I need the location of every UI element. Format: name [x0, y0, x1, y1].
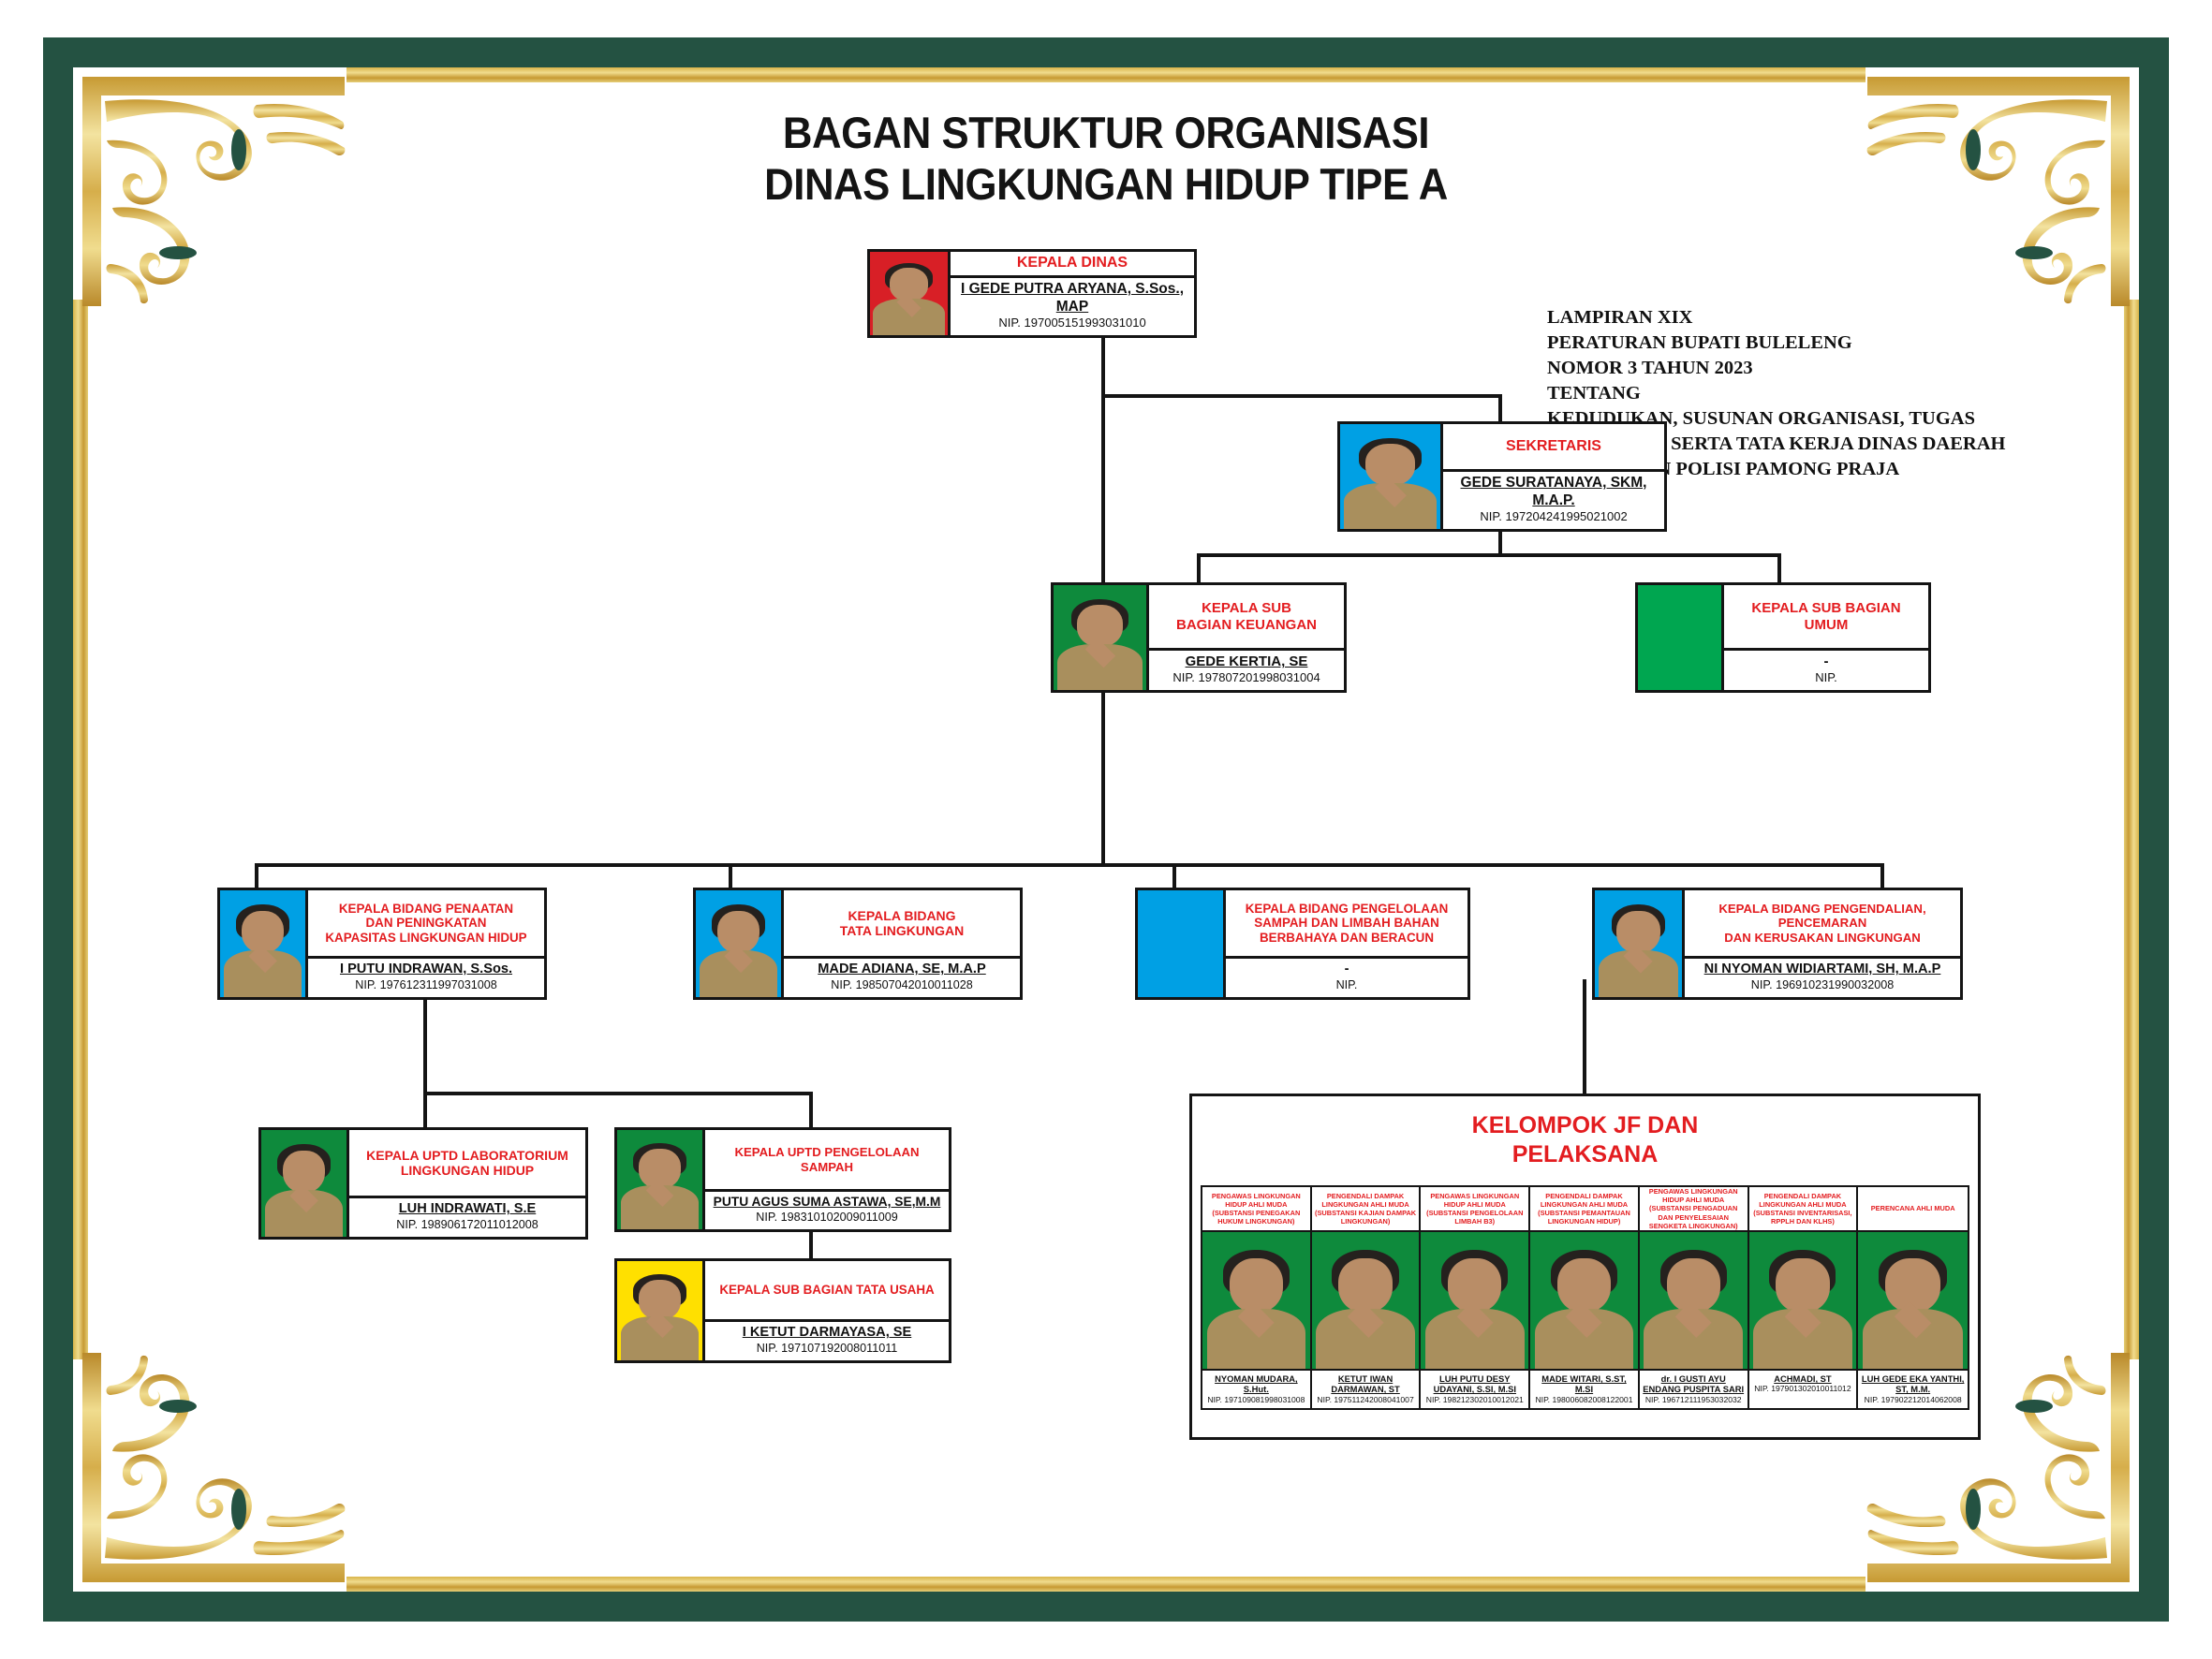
person-name: I GEDE PUTRA ARYANA, S.Sos., MAP — [954, 281, 1190, 316]
person-nip: NIP. 196712111953032032 — [1642, 1395, 1746, 1404]
connector-uptd-sampah-drop — [809, 1092, 813, 1127]
role-label: KEPALA SUB BAGIAN TATA USAHA — [705, 1261, 949, 1322]
jf-role-label: PERENCANA AHLI MUDA — [1858, 1187, 1968, 1232]
node-subbag-umum[interactable]: KEPALA SUB BAGIAN UMUM - NIP. — [1635, 582, 1931, 693]
person-name: I PUTU INDRAWAN, S.Sos. — [312, 962, 540, 978]
person-name: - — [1728, 653, 1924, 670]
gold-edge-left — [73, 300, 88, 1359]
person-name: MADE ADIANA, SE, M.A.P — [788, 962, 1016, 978]
avatar — [1312, 1232, 1420, 1371]
role-line-1: KEPALA BIDANG PENGENDALIAN, PENCEMARAN — [1689, 902, 1955, 931]
avatar — [696, 890, 784, 997]
node-sekretaris[interactable]: SEKRETARIS GEDE SURATANAYA, SKM, M.A.P. … — [1337, 421, 1667, 532]
avatar — [1054, 585, 1149, 690]
jf-member-cell[interactable]: PENGENDALI DAMPAK LINGKUNGAN AHLI MUDA (… — [1312, 1187, 1422, 1408]
avatar — [617, 1261, 705, 1360]
jf-name-block: LUH GEDE EKA YANTHI, ST, M.M.NIP. 197902… — [1858, 1371, 1968, 1408]
jf-name-block: MADE WITARI, S.ST, M.SINIP. 198006082008… — [1530, 1371, 1638, 1408]
person-name: NI NYOMAN WIDIARTAMI, SH, M.A.P — [1688, 962, 1956, 978]
person-nip: NIP. 198906172011012008 — [353, 1218, 582, 1232]
gold-edge-top — [347, 67, 1865, 82]
person-name: PUTU AGUS SUMA ASTAWA, SE,M.M — [709, 1195, 945, 1211]
connector-subbag-umum-drop — [1777, 553, 1781, 582]
title-line-1: BAGAN STRUKTUR ORGANISASI — [165, 107, 2048, 158]
role-line-2: LINGKUNGAN HIDUP — [366, 1163, 568, 1178]
connector-bidang-bus — [255, 863, 1884, 867]
jf-role-label: PENGAWAS LINGKUNGAN HIDUP AHLI MUDA (SUB… — [1421, 1187, 1528, 1232]
avatar — [261, 1130, 349, 1237]
person-nip: NIP. 197109081998031008 — [1204, 1395, 1308, 1404]
page-title: BAGAN STRUKTUR ORGANISASI DINAS LINGKUNG… — [94, 107, 2118, 211]
role-label: KEPALA DINAS — [951, 252, 1194, 278]
person-name: GEDE KERTIA, SE — [1153, 653, 1340, 670]
connector-bidang-2-drop — [729, 863, 732, 888]
jf-name-block: dr. I GUSTI AYU ENDANG PUSPITA SARINIP. … — [1640, 1371, 1747, 1408]
person-nip: NIP. 197107192008011011 — [709, 1342, 945, 1356]
role-line-1: KEPALA SUB — [1176, 600, 1317, 617]
node-bidang-tata-lingkungan[interactable]: KEPALA BIDANG TATA LINGKUNGAN MADE ADIAN… — [693, 888, 1023, 1000]
jf-role-label: PENGENDALI DAMPAK LINGKUNGAN AHLI MUDA (… — [1530, 1187, 1638, 1232]
jf-member-cell[interactable]: PENGENDALI DAMPAK LINGKUNGAN AHLI MUDA (… — [1749, 1187, 1859, 1408]
connector-bidang-3-drop — [1172, 863, 1176, 888]
person-nip: NIP. 197901302010011012 — [1751, 1384, 1855, 1393]
avatar — [1340, 424, 1443, 529]
jf-name-block: ACHMADI, STNIP. 197901302010011012 — [1749, 1371, 1857, 1408]
person-nip: NIP. 197902212014062008 — [1860, 1395, 1966, 1404]
connector-jf-spine — [1583, 979, 1586, 1094]
gold-edge-bottom — [347, 1577, 1865, 1592]
jf-role-label: PENGENDALI DAMPAK LINGKUNGAN AHLI MUDA (… — [1312, 1187, 1420, 1232]
jf-member-cell[interactable]: PENGAWAS LINGKUNGAN HIDUP AHLI MUDA (SUB… — [1202, 1187, 1312, 1408]
jf-member-cell[interactable]: PENGAWAS LINGKUNGAN HIDUP AHLI MUDA (SUB… — [1421, 1187, 1530, 1408]
person-nip: NIP. 198006082008122001 — [1532, 1395, 1636, 1404]
role-line-1: KEPALA BIDANG PENGELOLAAN — [1246, 902, 1449, 917]
role-label: KEPALA UPTD LABORATORIUM LINGKUNGAN HIDU… — [349, 1130, 585, 1198]
avatar — [1530, 1232, 1638, 1371]
node-kepala-dinas[interactable]: KEPALA DINAS I GEDE PUTRA ARYANA, S.Sos.… — [867, 249, 1197, 338]
role-line-2: DAN PENINGKATAN — [325, 916, 526, 931]
jf-name-block: KETUT IWAN DARMAWAN, STNIP. 197511242008… — [1312, 1371, 1420, 1408]
avatar — [1640, 1232, 1747, 1371]
person-name: I KETUT DARMAYASA, SE — [709, 1325, 945, 1342]
jf-title-line-2: PELAKSANA — [1192, 1140, 1978, 1169]
person-nip: NIP. 196910231990032008 — [1688, 978, 1956, 992]
role-label: KEPALA BIDANG TATA LINGKUNGAN — [784, 890, 1020, 959]
panel-kelompok-jf-pelaksana[interactable]: KELOMPOK JF DAN PELAKSANA PENGAWAS LINGK… — [1189, 1094, 1981, 1440]
jf-role-label: PENGAWAS LINGKUNGAN HIDUP AHLI MUDA (SUB… — [1202, 1187, 1310, 1232]
connector-uptd-bus — [423, 1092, 813, 1095]
role-line-3: BERBAHAYA DAN BERACUN — [1246, 931, 1449, 946]
connector-to-sekretaris-horizontal — [1101, 394, 1502, 398]
role-label: KEPALA BIDANG PENGELOLAAN SAMPAH DAN LIM… — [1226, 890, 1467, 959]
jf-title-line-1: KELOMPOK JF DAN — [1192, 1111, 1978, 1140]
node-subbag-tata-usaha[interactable]: KEPALA SUB BAGIAN TATA USAHA I KETUT DAR… — [614, 1258, 951, 1363]
node-subbag-keuangan[interactable]: KEPALA SUB BAGIAN KEUANGAN GEDE KERTIA, … — [1051, 582, 1347, 693]
person-nip: NIP. 198212302010012021 — [1423, 1395, 1526, 1404]
role-label: KEPALA UPTD PENGELOLAAN SAMPAH — [705, 1130, 949, 1192]
org-chart-canvas: BAGAN STRUKTUR ORGANISASI DINAS LINGKUNG… — [94, 88, 2118, 1571]
person-name: KETUT IWAN DARMAWAN, ST — [1314, 1373, 1418, 1395]
role-label: KEPALA SUB BAGIAN KEUANGAN — [1149, 585, 1344, 651]
person-nip: NIP. 198310102009011009 — [709, 1211, 945, 1225]
person-name: dr. I GUSTI AYU ENDANG PUSPITA SARI — [1642, 1373, 1746, 1395]
title-line-2: DINAS LINGKUNGAN HIDUP TIPE A — [165, 158, 2048, 210]
person-name: LUH INDRAWATI, S.E — [353, 1201, 582, 1218]
role-line-3: KAPASITAS LINGKUNGAN HIDUP — [325, 931, 526, 946]
person-nip: NIP. 197005151993031010 — [954, 316, 1190, 330]
person-nip: NIP. — [1230, 978, 1464, 992]
person-name: NYOMAN MUDARA, S.Hut. — [1204, 1373, 1308, 1395]
person-name: LUH GEDE EKA YANTHI, ST, M.M. — [1860, 1373, 1966, 1395]
avatar-placeholder — [1138, 890, 1226, 997]
node-uptd-pengelolaan-sampah[interactable]: KEPALA UPTD PENGELOLAAN SAMPAH PUTU AGUS… — [614, 1127, 951, 1232]
connector-bidang-4-drop — [1880, 863, 1884, 888]
connector-sekretaris-drop — [1498, 394, 1502, 421]
person-nip: NIP. 197612311997031008 — [312, 978, 540, 992]
person-nip: NIP. 197807201998031004 — [1153, 670, 1340, 685]
role-line-2: BAGIAN KEUANGAN — [1176, 617, 1317, 634]
node-bidang-pengendalian[interactable]: KEPALA BIDANG PENGENDALIAN, PENCEMARAN D… — [1592, 888, 1963, 1000]
role-line-1: KEPALA BIDANG — [840, 908, 964, 923]
role-label: KEPALA BIDANG PENGENDALIAN, PENCEMARAN D… — [1685, 890, 1960, 959]
role-label: KEPALA BIDANG PENAATAN DAN PENINGKATAN K… — [308, 890, 544, 959]
avatar — [1595, 890, 1685, 997]
connector-kepala-dinas-vertical — [1101, 338, 1105, 396]
avatar-placeholder — [1638, 585, 1724, 690]
connector-subbag-bus — [1197, 553, 1781, 557]
connector-bidang-1-drop — [255, 863, 258, 888]
jf-name-block: LUH PUTU DESY UDAYANI, S.SI, M.SINIP. 19… — [1421, 1371, 1528, 1408]
gold-edge-right — [2124, 300, 2139, 1359]
person-nip: NIP. 197511242008041007 — [1314, 1395, 1418, 1404]
person-nip: NIP. 198507042010011028 — [788, 978, 1016, 992]
jf-member-grid: PENGAWAS LINGKUNGAN HIDUP AHLI MUDA (SUB… — [1201, 1185, 1969, 1410]
person-name: ACHMADI, ST — [1751, 1373, 1855, 1384]
person-name: GEDE SURATANAYA, SKM, M.A.P. — [1447, 475, 1660, 509]
connector-uptd-lab-drop — [423, 1092, 427, 1127]
jf-panel-title: KELOMPOK JF DAN PELAKSANA — [1192, 1096, 1978, 1180]
avatar — [220, 890, 308, 997]
person-name: - — [1230, 962, 1464, 978]
jf-member-cell[interactable]: PENGAWAS LINGKUNGAN HIDUP AHLI MUDA (SUB… — [1640, 1187, 1749, 1408]
avatar — [1858, 1232, 1968, 1371]
role-line-2: TATA LINGKUNGAN — [840, 923, 964, 938]
jf-role-label: PENGAWAS LINGKUNGAN HIDUP AHLI MUDA (SUB… — [1640, 1187, 1747, 1232]
avatar — [1202, 1232, 1310, 1371]
person-name: MADE WITARI, S.ST, M.SI — [1532, 1373, 1636, 1395]
role-line-1: KEPALA BIDANG PENAATAN — [325, 902, 526, 917]
jf-role-label: PENGENDALI DAMPAK LINGKUNGAN AHLI MUDA (… — [1749, 1187, 1857, 1232]
avatar — [1421, 1232, 1528, 1371]
role-line-2: DAN KERUSAKAN LINGKUNGAN — [1689, 931, 1955, 945]
node-bidang-sampah-b3[interactable]: KEPALA BIDANG PENGELOLAAN SAMPAH DAN LIM… — [1135, 888, 1470, 1000]
jf-name-block: NYOMAN MUDARA, S.Hut.NIP. 19710908199803… — [1202, 1371, 1310, 1408]
node-uptd-laboratorium[interactable]: KEPALA UPTD LABORATORIUM LINGKUNGAN HIDU… — [258, 1127, 588, 1240]
legal-line-1: LAMPIRAN XIX — [1547, 305, 2005, 330]
person-name: LUH PUTU DESY UDAYANI, S.SI, M.SI — [1423, 1373, 1526, 1395]
connector-tata-usaha-drop — [809, 1232, 813, 1258]
legal-line-2: PERATURAN BUPATI BULELENG — [1547, 330, 2005, 356]
jf-member-cell[interactable]: PENGENDALI DAMPAK LINGKUNGAN AHLI MUDA (… — [1530, 1187, 1640, 1408]
avatar — [617, 1130, 705, 1229]
connector-subbag-keuangan-drop — [1197, 553, 1201, 582]
jf-member-cell[interactable]: PERENCANA AHLI MUDALUH GEDE EKA YANTHI, … — [1858, 1187, 1968, 1408]
avatar — [870, 252, 951, 335]
legal-line-4: TENTANG — [1547, 381, 2005, 406]
role-line-2: SAMPAH DAN LIMBAH BAHAN — [1246, 916, 1449, 931]
role-label: KEPALA SUB BAGIAN UMUM — [1724, 585, 1928, 651]
person-nip: NIP. 197204241995021002 — [1447, 509, 1660, 524]
role-label: SEKRETARIS — [1443, 424, 1664, 472]
person-nip: NIP. — [1728, 670, 1924, 685]
role-line-1: KEPALA UPTD LABORATORIUM — [366, 1148, 568, 1163]
legal-line-3: NOMOR 3 TAHUN 2023 — [1547, 356, 2005, 381]
node-bidang-penaatan[interactable]: KEPALA BIDANG PENAATAN DAN PENINGKATAN K… — [217, 888, 547, 1000]
avatar — [1749, 1232, 1857, 1371]
